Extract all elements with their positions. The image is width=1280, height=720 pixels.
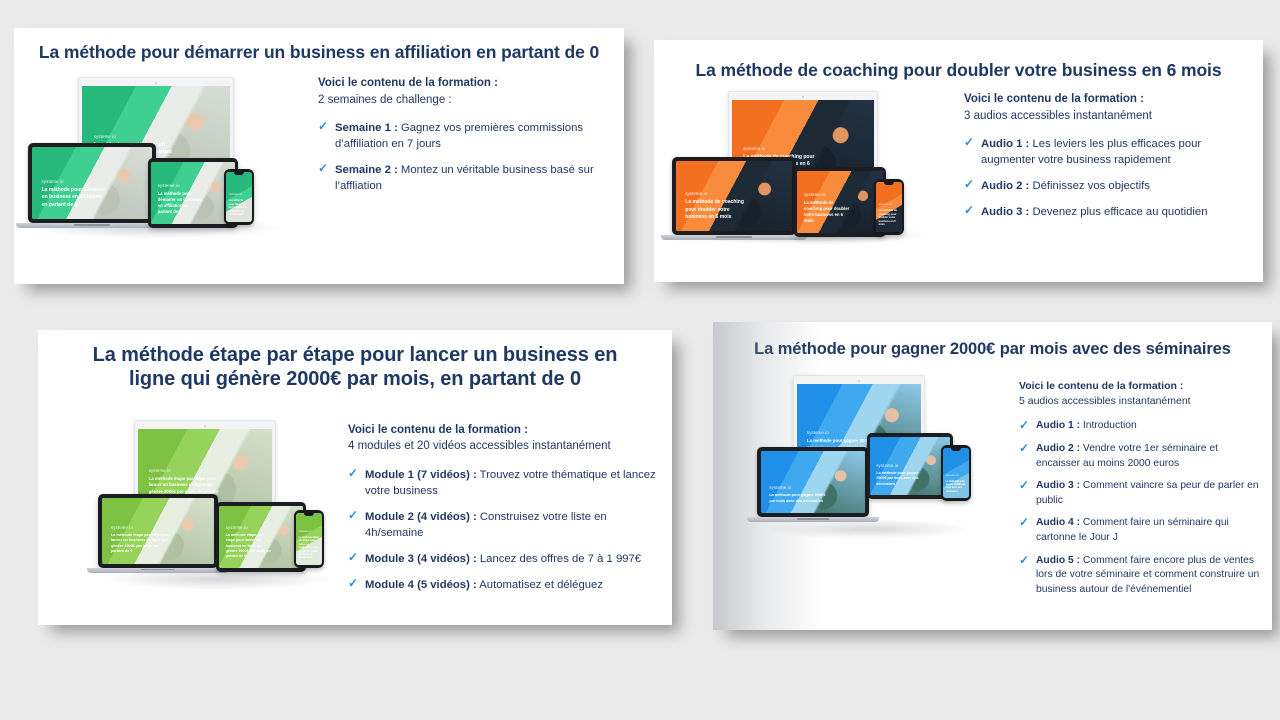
item-text: Devenez plus efficace au quotidien: [1029, 206, 1207, 218]
check-icon: ✓: [1019, 479, 1030, 490]
offer-card-seminaires[interactable]: La méthode pour gagner 2000€ par mois av…: [713, 322, 1272, 630]
card-title: La méthode pour démarrer un business en …: [14, 28, 624, 63]
mockup-brand: systeme.io: [158, 183, 203, 188]
item-label: Audio 1 :: [981, 138, 1029, 150]
laptop-screen: systeme.io La méthode pour gagner 2000€ …: [761, 451, 865, 513]
device-mockups: systeme.io La méthode de coaching pour d…: [672, 91, 942, 243]
item-label: Module 2 (4 vidéos) :: [365, 511, 477, 523]
tablet-mockup: systeme.io La méthode étape par étape po…: [216, 502, 306, 572]
mockup-brand: systeme.io: [879, 204, 900, 206]
device-mockups: systeme.io La méthode étape par étape po…: [98, 406, 336, 586]
check-icon: ✓: [1019, 554, 1030, 565]
mockup-brand: systeme.io: [226, 525, 271, 530]
content-lead-title: Voici le contenu de la formation :: [964, 91, 1251, 108]
mockup-headline: La méthode de coaching pour doubler votr…: [804, 200, 850, 224]
list-item: ✓ Audio 3 : Devenez plus efficace au quo…: [964, 204, 1251, 220]
card-title: La méthode de coaching pour doubler votr…: [654, 40, 1263, 81]
check-icon: ✓: [348, 467, 359, 478]
content-lead-sub: 5 audios accessibles instantanément: [1019, 394, 1260, 409]
item-text: Lancez des offres de 7 à 1 997€: [477, 553, 641, 565]
mockup-headline: La méthode étape par étape pour lancer u…: [299, 536, 320, 560]
card-title: La méthode étape par étape pour lancer u…: [38, 330, 672, 392]
content-lead-title: Voici le contenu de la formation :: [348, 422, 660, 439]
mockup-headline: La méthode de coaching pour doubler votr…: [685, 199, 748, 221]
check-icon: ✓: [964, 178, 975, 189]
offer-card-business-en-ligne[interactable]: La méthode étape par étape pour lancer u…: [38, 330, 672, 625]
item-text: Introduction: [1080, 420, 1137, 431]
content-lead-title: Voici le contenu de la formation :: [1019, 379, 1260, 394]
item-label: Module 1 (7 vidéos) :: [365, 469, 477, 481]
list-item: ✓ Audio 4 : Comment faire un séminaire q…: [1019, 516, 1260, 545]
check-icon: ✓: [348, 551, 359, 562]
phone-mockup: systeme.io La méthode pour démarrer un b…: [224, 169, 254, 225]
check-icon: ✓: [964, 204, 975, 215]
item-label: Audio 1 :: [1036, 420, 1080, 431]
device-mockup-group: systeme.io La méthode pour démarrer un b…: [28, 75, 290, 235]
phone-screen: systeme.io La méthode de coaching pour d…: [876, 182, 902, 232]
list-item: ✓ Audio 5 : Comment faire encore plus de…: [1019, 554, 1260, 598]
check-icon: ✓: [1019, 442, 1030, 453]
mockup-brand: systeme.io: [229, 194, 250, 196]
mockup-headline: La méthode pour gagner 2000€ par mois av…: [946, 480, 967, 493]
phone-mockup: systeme.io La méthode de coaching pour d…: [874, 179, 904, 235]
mockup-brand: systeme.io: [111, 525, 172, 530]
tablet-screen: systeme.io La méthode étape par étape po…: [219, 506, 303, 568]
webcam-dot: [155, 82, 157, 84]
list-item: ✓ Module 2 (4 vidéos) : Construisez votr…: [348, 509, 660, 541]
mockup-brand: systeme.io: [94, 134, 174, 139]
mockup-headline: La méthode pour démarrer un business en …: [42, 187, 107, 209]
item-label: Semaine 2 :: [335, 164, 398, 176]
list-item: ✓ Audio 2 : Vendre votre 1er séminaire e…: [1019, 442, 1260, 471]
mockup-headline: La méthode pour gagner 2000€ par mois av…: [876, 471, 919, 487]
tablet-screen: systeme.io La méthode pour gagner 2000€ …: [870, 437, 950, 495]
item-label: Audio 4 :: [1036, 517, 1080, 528]
laptop-mockup: systeme.io La méthode pour démarrer un b…: [28, 143, 156, 228]
list-item: ✓ Audio 2 : Définissez vos objectifs: [964, 178, 1251, 194]
list-item: ✓ Semaine 1 : Gagnez vos premières commi…: [318, 120, 614, 152]
card-content: Voici le contenu de la formation : 3 aud…: [942, 91, 1251, 230]
list-item: ✓ Module 4 (5 vidéos) : Automatisez et d…: [348, 577, 660, 593]
phone-screen: systeme.io La méthode pour démarrer un b…: [226, 172, 252, 222]
item-text: Automatisez et déléguez: [477, 579, 603, 591]
check-icon: ✓: [348, 509, 359, 520]
laptop-hinge: [87, 568, 229, 573]
check-icon: ✓: [318, 120, 329, 131]
content-lead-title: Voici le contenu de la formation :: [318, 75, 614, 92]
mockup-headline: La méthode étape par étape pour lancer u…: [111, 533, 172, 555]
phone-mockup: systeme.io La méthode étape par étape po…: [294, 510, 324, 568]
feature-list: ✓ Audio 1 : Les leviers les plus efficac…: [964, 136, 1251, 220]
mockup-headline: La méthode de coaching pour doubler votr…: [879, 209, 900, 227]
webcam-dot: [802, 96, 804, 98]
list-item: ✓ Audio 1 : Les leviers les plus efficac…: [964, 136, 1251, 168]
device-shadow: [761, 519, 971, 539]
laptop-mockup: systeme.io La méthode de coaching pour d…: [672, 157, 796, 240]
check-icon: ✓: [1019, 419, 1030, 430]
check-icon: ✓: [348, 577, 359, 588]
item-label: Semaine 1 :: [335, 122, 398, 134]
offer-card-coaching[interactable]: La méthode de coaching pour doubler votr…: [654, 40, 1263, 282]
mockup-headline: La méthode pour démarrer un business en …: [229, 199, 250, 217]
list-item: ✓ Module 1 (7 vidéos) : Trouvez votre th…: [348, 467, 660, 499]
content-lead-sub: 4 modules et 20 vidéos accessibles insta…: [348, 438, 660, 455]
slide-canvas: La méthode pour démarrer un business en …: [0, 0, 1280, 720]
mockup-headline: La méthode étape par étape pour lancer u…: [226, 533, 271, 559]
phone-screen: systeme.io La méthode étape par étape po…: [296, 513, 322, 565]
check-icon: ✓: [1019, 516, 1030, 527]
phone-screen: systeme.io La méthode pour gagner 2000€ …: [943, 448, 969, 498]
mockup-headline: La méthode pour gagner 2000€ par mois av…: [769, 493, 825, 504]
mockup-brand: systeme.io: [807, 430, 874, 435]
card-content: Voici le contenu de la formation : 2 sem…: [290, 75, 614, 204]
check-icon: ✓: [964, 136, 975, 147]
content-lead-sub: 3 audios accessibles instantanément: [964, 108, 1251, 125]
item-label: Audio 5 :: [1036, 555, 1080, 566]
list-item: ✓ Audio 1 : Introduction: [1019, 419, 1260, 434]
list-item: ✓ Semaine 2 : Montez un véritable busine…: [318, 162, 614, 194]
item-label: Audio 3 :: [981, 206, 1029, 218]
phone-mockup: systeme.io La méthode pour gagner 2000€ …: [941, 445, 971, 501]
mockup-brand: systeme.io: [804, 192, 850, 197]
laptop-screen: systeme.io La méthode pour démarrer un b…: [32, 147, 152, 219]
tablet-screen: systeme.io La méthode de coaching pour d…: [797, 171, 883, 233]
device-mockups: systeme.io La méthode pour gagner 2000€ …: [757, 375, 975, 545]
mockup-headline: La méthode pour démarrer un business en …: [158, 191, 203, 215]
laptop-mockup: systeme.io La méthode pour gagner 2000€ …: [757, 447, 869, 522]
mockup-brand: systeme.io: [299, 531, 320, 533]
item-label: Audio 3 :: [1036, 480, 1080, 491]
mockup-brand: systeme.io: [743, 146, 820, 151]
item-label: Audio 2 :: [981, 180, 1029, 192]
webcam-dot: [204, 425, 206, 427]
tablet-screen: systeme.io La méthode pour démarrer un b…: [151, 162, 235, 224]
item-label: Audio 2 :: [1036, 443, 1080, 454]
mockup-brand: systeme.io: [685, 191, 748, 196]
check-icon: ✓: [318, 162, 329, 173]
laptop-screen: systeme.io La méthode de coaching pour d…: [676, 161, 792, 231]
laptop-mockup: systeme.io La méthode étape par étape po…: [98, 494, 218, 573]
feature-list: ✓ Module 1 (7 vidéos) : Trouvez votre th…: [348, 467, 660, 593]
device-mockup-group: systeme.io La méthode de coaching pour d…: [672, 91, 942, 243]
card-title: La méthode pour gagner 2000€ par mois av…: [713, 322, 1272, 359]
laptop-hinge: [661, 235, 807, 240]
mockup-brand: systeme.io: [149, 468, 221, 473]
feature-list: ✓ Semaine 1 : Gagnez vos premières commi…: [318, 120, 614, 194]
list-item: ✓ Audio 3 : Comment vaincre sa peur de p…: [1019, 479, 1260, 508]
device-mockups: systeme.io La méthode pour démarrer un b…: [28, 75, 290, 235]
mockup-brand: systeme.io: [42, 179, 107, 184]
card-content: Voici le contenu de la formation : 5 aud…: [975, 375, 1260, 606]
item-text: Définissez vos objectifs: [1029, 180, 1150, 192]
laptop-hinge: [747, 517, 879, 522]
laptop-screen: systeme.io La méthode étape par étape po…: [102, 498, 214, 564]
feature-list: ✓ Audio 1 : Introduction ✓ Audio 2 : Ven…: [1019, 419, 1260, 597]
mockup-brand: systeme.io: [946, 475, 967, 477]
laptop-hinge: [16, 223, 167, 228]
tablet-mockup: systeme.io La méthode de coaching pour d…: [794, 167, 886, 237]
content-lead-sub: 2 semaines de challenge :: [318, 92, 614, 109]
mockup-brand: systeme.io: [876, 463, 919, 468]
card-content: Voici le contenu de la formation : 4 mod…: [336, 406, 660, 604]
device-mockup-group: systeme.io La méthode pour gagner 2000€ …: [757, 375, 975, 545]
item-label: Module 4 (5 vidéos) :: [365, 579, 477, 591]
list-item: ✓ Module 3 (4 vidéos) : Lancez des offre…: [348, 551, 660, 567]
webcam-dot: [858, 380, 860, 382]
mockup-brand: systeme.io: [769, 485, 825, 490]
item-label: Module 3 (4 vidéos) :: [365, 553, 477, 565]
device-mockup-group: systeme.io La méthode étape par étape po…: [98, 406, 336, 586]
offer-card-affiliation[interactable]: La méthode pour démarrer un business en …: [14, 28, 624, 284]
